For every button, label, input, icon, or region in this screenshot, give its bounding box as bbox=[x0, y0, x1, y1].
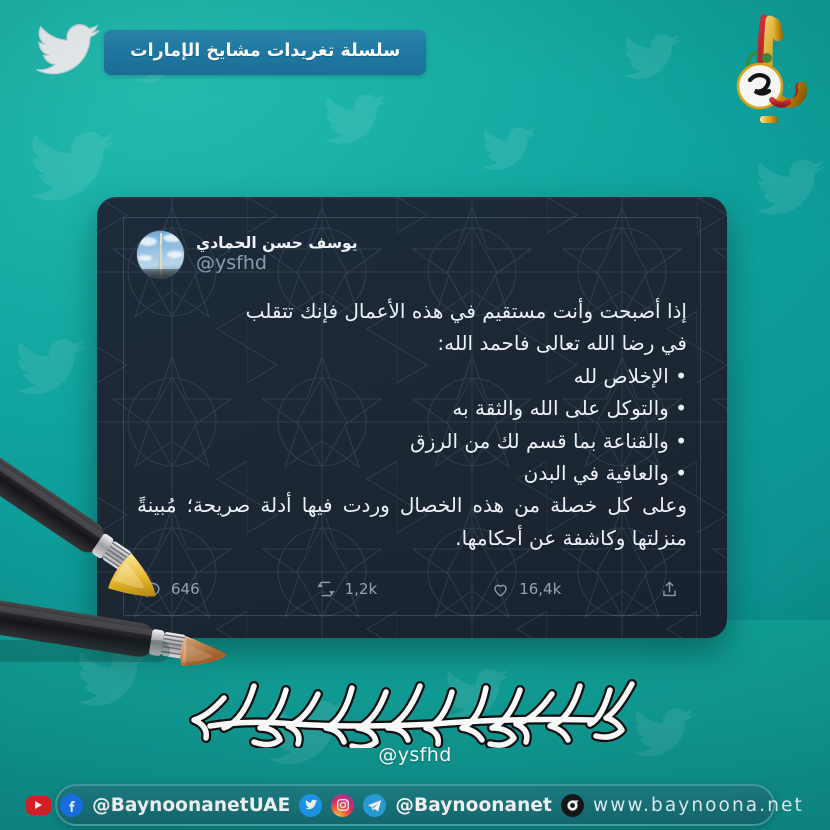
series-title-badge: سلسلة تغريدات مشايخ الإمارات bbox=[104, 30, 426, 75]
author-names: يوسف حسن الحمادي @ysfhd bbox=[196, 235, 358, 275]
poster-canvas: سلسلة تغريدات مشايخ الإمارات bbox=[0, 0, 830, 830]
social-footer-bar: @BaynoonanetUAE @Baynoonanet www.baynoon… bbox=[55, 784, 775, 826]
signature-handle[interactable]: @ysfhd bbox=[378, 744, 451, 766]
retweet-icon bbox=[316, 579, 336, 599]
fountain-pens-illustration bbox=[0, 440, 280, 700]
telegram-handle[interactable]: @Baynoonanet bbox=[395, 795, 552, 816]
tweet-author: يوسف حسن الحمادي @ysfhd bbox=[137, 231, 358, 278]
avatar-cloud bbox=[167, 251, 183, 258]
youtube-icon[interactable] bbox=[26, 796, 51, 815]
twitter-bird-icon bbox=[470, 120, 544, 182]
author-handle[interactable]: @ysfhd bbox=[196, 253, 267, 274]
baynoona-gold-calligraphy-logo bbox=[720, 8, 812, 130]
avatar-cloud bbox=[139, 237, 157, 246]
series-title-text: سلسلة تغريدات مشايخ الإمارات bbox=[130, 41, 400, 61]
instagram-icon[interactable] bbox=[331, 794, 354, 817]
twitter-bird-icon bbox=[0, 330, 96, 410]
avatar-cloud bbox=[138, 255, 152, 261]
avatar-cloud bbox=[163, 234, 183, 242]
retweet-count: 1,2k bbox=[345, 580, 378, 598]
twitter-bird-icon bbox=[740, 150, 830, 230]
avatar[interactable] bbox=[137, 231, 184, 278]
tweet-line: في رضا الله تعالى فاحمد الله: bbox=[137, 327, 687, 359]
retweet-button[interactable]: 1,2k bbox=[316, 579, 378, 599]
twitter-glyph bbox=[304, 798, 318, 812]
tweet-line: • الإخلاص لله bbox=[137, 360, 687, 392]
twitter-bird-icon bbox=[24, 16, 108, 88]
poster-header: سلسلة تغريدات مشايخ الإمارات bbox=[0, 0, 830, 110]
website-url[interactable]: www.baynoona.net bbox=[593, 795, 804, 816]
share-icon bbox=[660, 580, 679, 599]
burj-khalifa-spire bbox=[160, 233, 162, 244]
avatar-skyline bbox=[137, 269, 184, 278]
telegram-glyph bbox=[367, 798, 382, 813]
chrome-glyph bbox=[564, 797, 581, 814]
signature-block: الشيخ يوسف بن حسن الحمادي bbox=[0, 668, 830, 780]
author-display-name: يوسف حسن الحمادي bbox=[196, 235, 358, 252]
share-button[interactable] bbox=[660, 580, 679, 599]
twitter-icon[interactable] bbox=[299, 794, 322, 817]
like-count: 16,4k bbox=[519, 580, 561, 598]
like-button[interactable]: 16,4k bbox=[491, 580, 561, 599]
sheikh-name-calligraphy: الشيخ يوسف بن حسن الحمادي bbox=[180, 668, 650, 748]
tweet-line: إذا أصبحت وأنت مستقيم في هذه الأعمال فإن… bbox=[137, 295, 687, 327]
instagram-glyph bbox=[336, 798, 350, 812]
telegram-icon[interactable] bbox=[363, 794, 386, 817]
chrome-icon[interactable] bbox=[561, 794, 584, 817]
tweet-line: • والتوكل على الله والثقة به bbox=[137, 392, 687, 424]
facebook-icon[interactable] bbox=[60, 794, 83, 817]
heart-icon bbox=[491, 580, 510, 599]
facebook-handle[interactable]: @BaynoonanetUAE bbox=[92, 795, 290, 816]
facebook-glyph bbox=[65, 798, 79, 812]
